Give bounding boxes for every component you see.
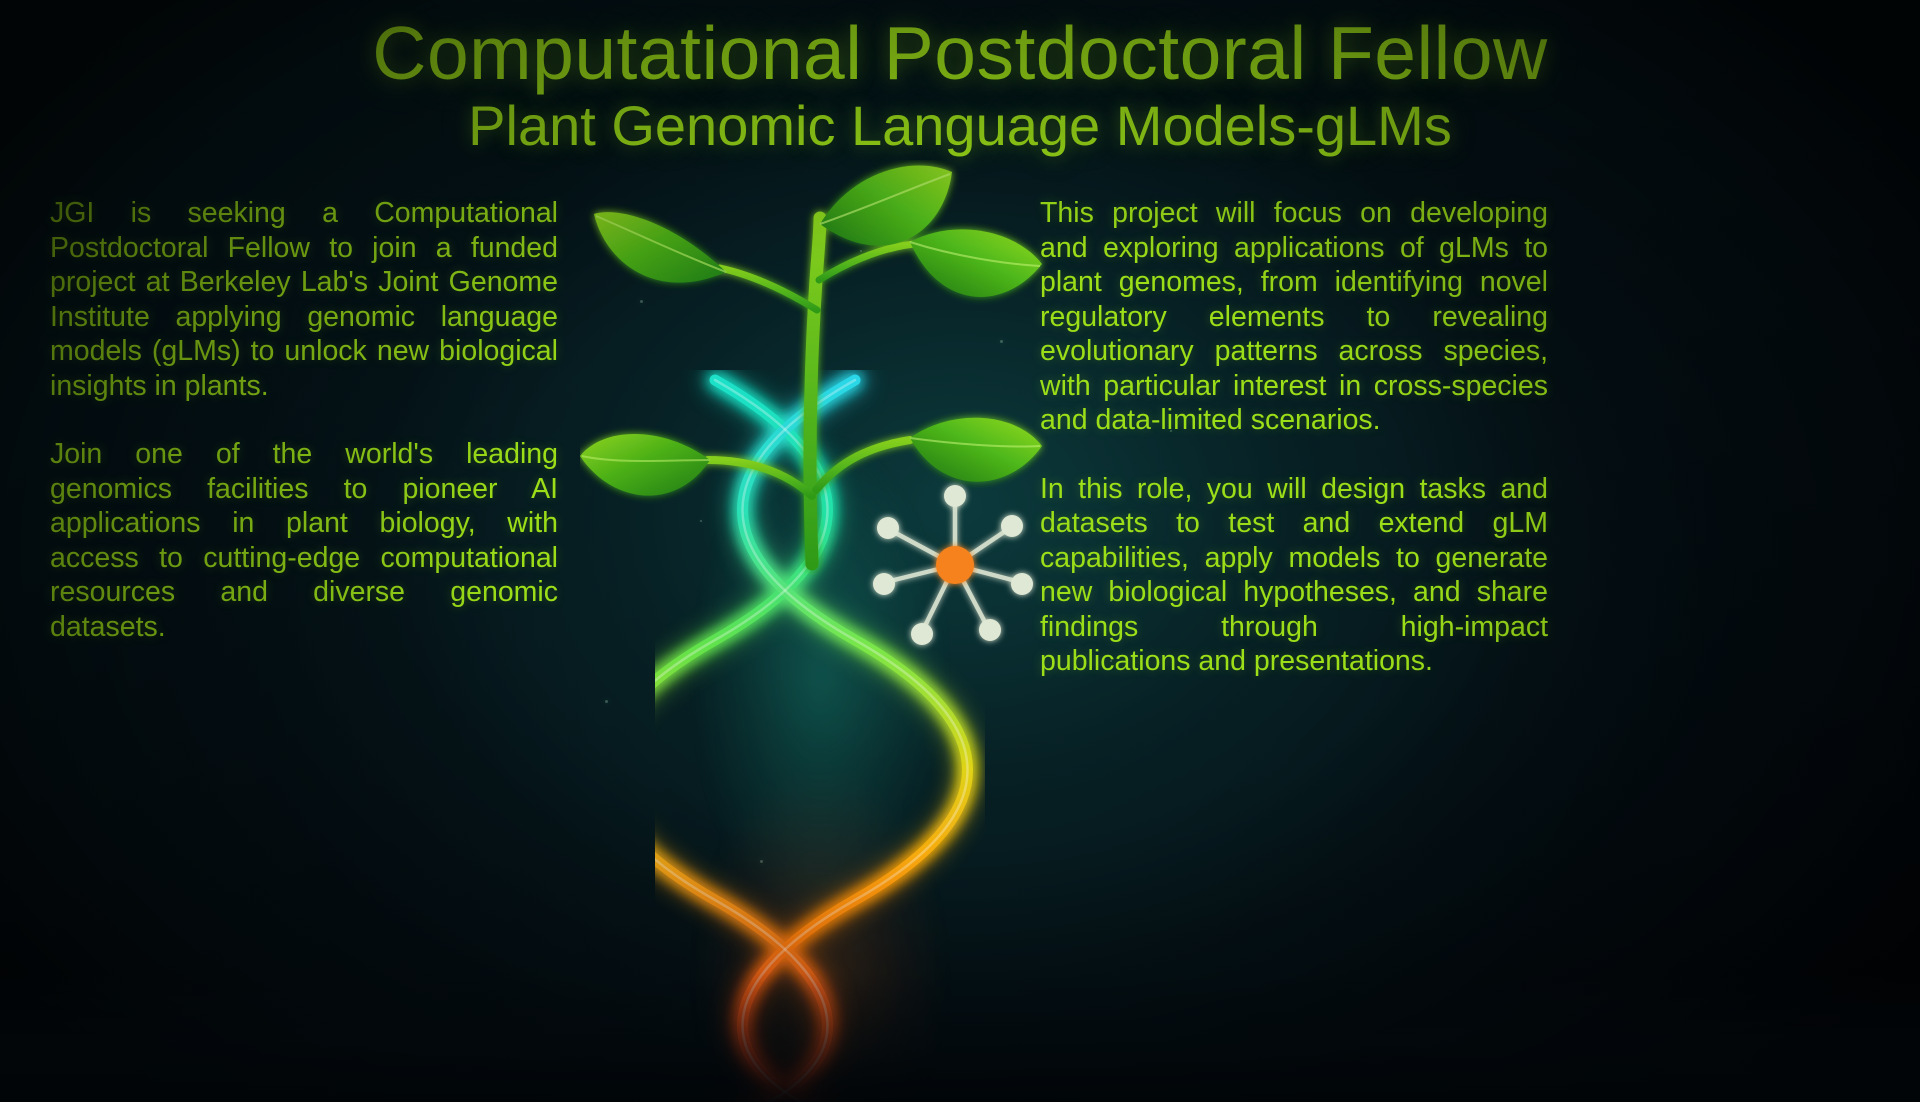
left-paragraph-2: Join one of the world's leading genomics… xyxy=(50,437,558,644)
right-paragraph-2: In this role, you will design tasks and … xyxy=(1040,472,1548,679)
page-title: Computational Postdoctoral Fellow xyxy=(0,16,1920,91)
molecular-network-node-icon xyxy=(860,470,1050,660)
right-paragraph-1: This project will focus on developing an… xyxy=(1040,196,1548,438)
central-artwork xyxy=(560,120,1080,1102)
left-text-column: JGI is seeking a Computational Postdocto… xyxy=(50,196,558,644)
left-paragraph-1: JGI is seeking a Computational Postdocto… xyxy=(50,196,558,403)
poster-canvas: Computational Postdoctoral Fellow Plant … xyxy=(0,0,1920,1102)
right-text-column: This project will focus on developing an… xyxy=(1040,196,1548,679)
